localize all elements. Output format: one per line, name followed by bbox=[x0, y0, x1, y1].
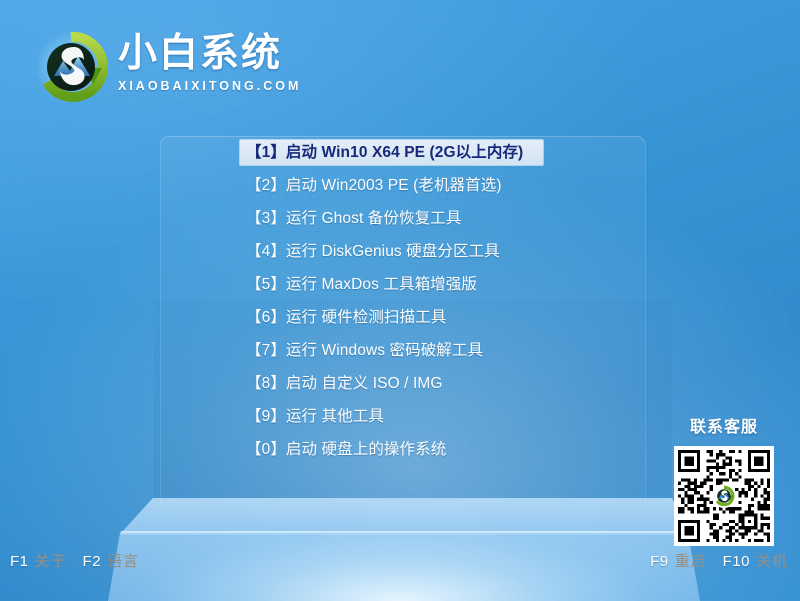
menu-item-label: 【7】运行 Windows 密码破解工具 bbox=[246, 338, 483, 363]
hotkey-f2[interactable]: F2 bbox=[83, 552, 102, 572]
recycle-circle-logo-icon bbox=[34, 30, 108, 104]
menu-item-8[interactable]: 【8】启动 自定义 ISO / IMG bbox=[240, 371, 543, 396]
hotkey-f9-label[interactable]: 重启 bbox=[675, 552, 707, 572]
menu-item-9[interactable]: 【9】运行 其他工具 bbox=[240, 404, 543, 429]
hotkey-f1[interactable]: F1 bbox=[10, 552, 29, 572]
menu-item-3[interactable]: 【3】运行 Ghost 备份恢复工具 bbox=[240, 206, 543, 231]
customer-service-label: 联系客服 bbox=[660, 418, 788, 438]
menu-item-4[interactable]: 【4】运行 DiskGenius 硬盘分区工具 bbox=[240, 239, 543, 264]
hotkey-f10-label[interactable]: 关机 bbox=[756, 552, 788, 572]
menu-item-5[interactable]: 【5】运行 MaxDos 工具箱增强版 bbox=[240, 272, 543, 297]
hotkey-f10[interactable]: F10 bbox=[723, 552, 750, 572]
menu-item-label: 【4】运行 DiskGenius 硬盘分区工具 bbox=[246, 239, 500, 264]
qr-code-icon[interactable] bbox=[674, 446, 774, 546]
boot-menu-list: 【1】启动 Win10 X64 PE (2G以上内存) 【2】启动 Win200… bbox=[240, 140, 660, 470]
menu-item-label: 【5】运行 MaxDos 工具箱增强版 bbox=[246, 272, 477, 297]
menu-item-label: 【0】启动 硬盘上的操作系统 bbox=[246, 437, 446, 462]
menu-item-0[interactable]: 【0】启动 硬盘上的操作系统 bbox=[240, 437, 543, 462]
menu-item-label: 【9】运行 其他工具 bbox=[246, 404, 384, 429]
footer-hotkeys-left: F1 关于 F2 语言 bbox=[10, 552, 139, 572]
menu-item-label: 【8】启动 自定义 ISO / IMG bbox=[246, 371, 443, 396]
hotkey-f9[interactable]: F9 bbox=[650, 552, 669, 572]
boot-menu-screen: 小白系统 XIAOBAIXITONG.COM 【1】启动 Win10 X64 P… bbox=[0, 0, 800, 601]
menu-item-label: 【1】启动 Win10 X64 PE (2G以上内存) bbox=[246, 140, 523, 165]
brand-name-cn: 小白系统 bbox=[118, 32, 308, 76]
menu-item-label: 【6】运行 硬件检测扫描工具 bbox=[246, 305, 446, 330]
hotkey-f1-label[interactable]: 关于 bbox=[35, 552, 67, 572]
footer-hotkeys-right: F9 重启 F10 关机 bbox=[650, 552, 788, 572]
brand-text: 小白系统 XIAOBAIXITONG.COM bbox=[118, 32, 308, 94]
menu-item-7[interactable]: 【7】运行 Windows 密码破解工具 bbox=[240, 338, 543, 363]
menu-item-2[interactable]: 【2】启动 Win2003 PE (老机器首选) bbox=[240, 173, 543, 198]
customer-service-block: 联系客服 bbox=[660, 418, 788, 546]
menu-item-label: 【2】启动 Win2003 PE (老机器首选) bbox=[246, 173, 502, 198]
recycle-circle-logo-icon bbox=[712, 484, 736, 508]
brand-logo: 小白系统 XIAOBAIXITONG.COM bbox=[34, 28, 284, 110]
hotkey-f2-label[interactable]: 语言 bbox=[107, 552, 139, 572]
menu-item-6[interactable]: 【6】运行 硬件检测扫描工具 bbox=[240, 305, 543, 330]
menu-item-label: 【3】运行 Ghost 备份恢复工具 bbox=[246, 206, 461, 231]
menu-item-1[interactable]: 【1】启动 Win10 X64 PE (2G以上内存) bbox=[240, 140, 543, 165]
brand-name-en: XIAOBAIXITONG.COM bbox=[118, 79, 308, 94]
